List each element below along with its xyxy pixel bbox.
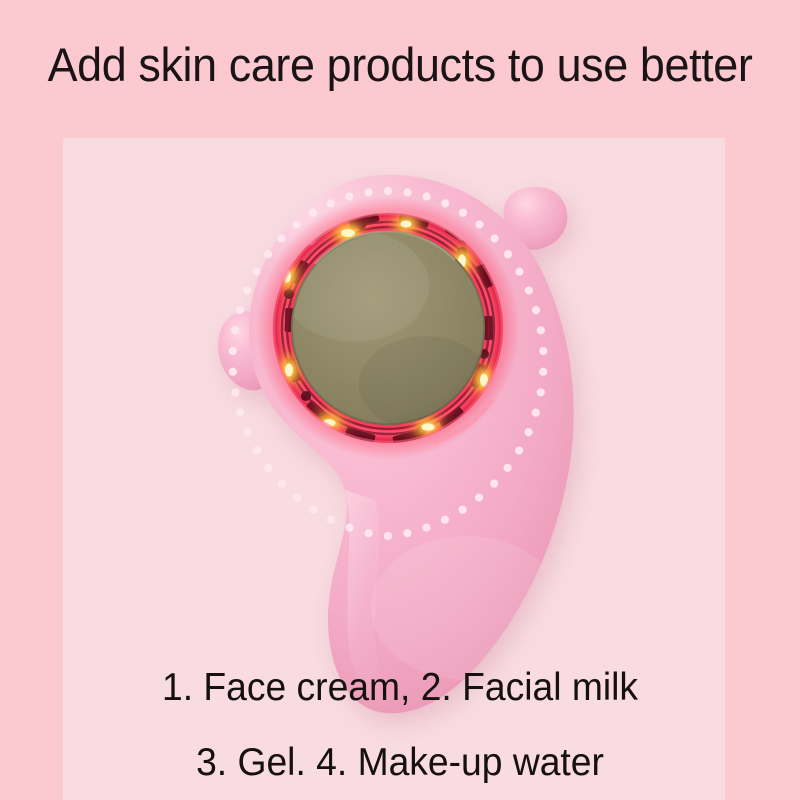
device-silhouette — [249, 175, 574, 714]
metal-plate-rim-shine — [315, 232, 455, 264]
body-sheen-top — [161, 150, 501, 406]
bump-dot-ring — [229, 187, 548, 540]
page-title: Add skin care products to use better — [18, 36, 782, 94]
led-ring-group — [256, 196, 520, 460]
led-lit-group — [275, 213, 496, 438]
caption-line-1: 1. Face cream, 2. Facial milk — [18, 665, 782, 711]
device-body-group — [161, 150, 574, 713]
caption-line-2: 3. Gel. 4. Make-up water — [18, 740, 782, 786]
led-ring-gloss — [274, 211, 502, 442]
led-ring-circuitry — [282, 212, 494, 445]
device-ear-left — [218, 311, 275, 390]
led-ring-body — [273, 213, 503, 443]
device-highlight-group — [161, 150, 563, 710]
metal-plate-texture — [281, 230, 491, 432]
metal-plate — [291, 231, 485, 425]
promo-poster: Add skin care products to use better — [0, 0, 800, 800]
metal-plate-group — [281, 230, 491, 432]
device-ear-right — [504, 187, 568, 250]
body-sheen-lower — [371, 536, 563, 680]
metal-plate-rim — [292, 232, 484, 424]
led-ring-outer-glow — [256, 196, 520, 460]
